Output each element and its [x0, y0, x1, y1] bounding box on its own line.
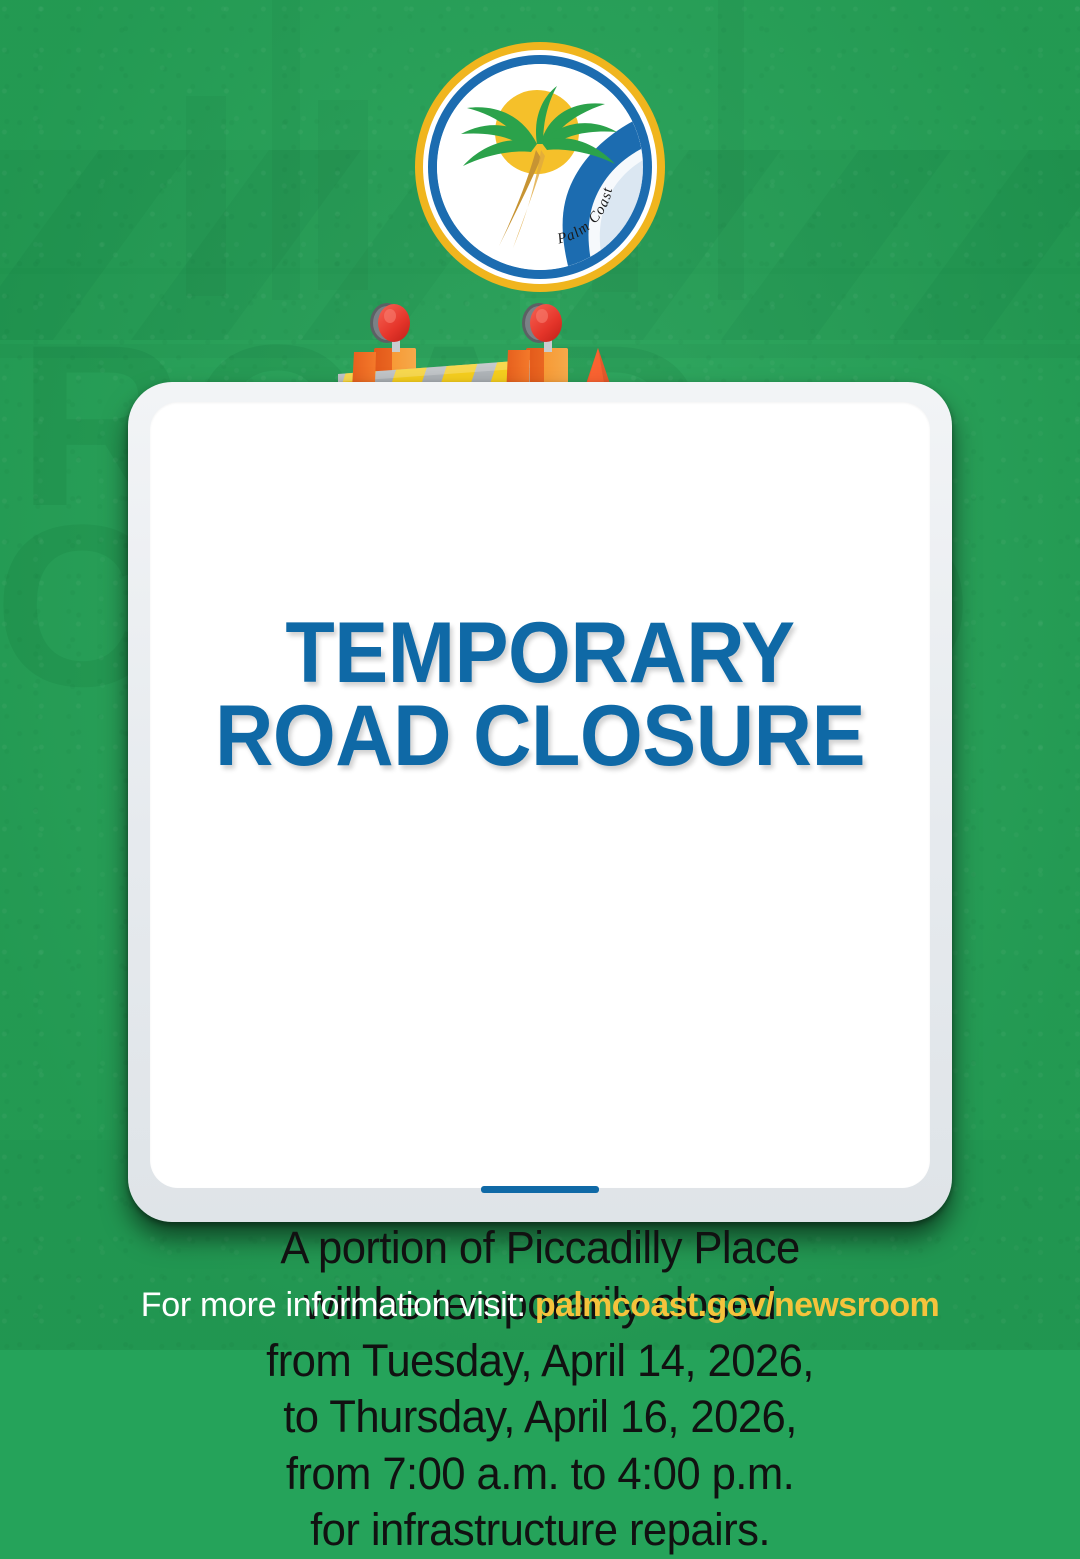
footer-info: For more information visit: palmcoast.go…: [0, 1288, 1080, 1322]
announcement-card-inner: TEMPORARY ROAD CLOSURE A portion of Picc…: [150, 402, 930, 1188]
announcement-card: TEMPORARY ROAD CLOSURE A portion of Picc…: [128, 382, 952, 1222]
body-line: for infrastructure repairs.: [220, 1502, 860, 1558]
announcement-body: A portion of Piccadilly Place will be te…: [220, 1220, 860, 1559]
headline-line-1: TEMPORARY: [173, 612, 906, 695]
footer-url[interactable]: palmcoast.gov/newsroom: [535, 1286, 939, 1324]
barricade-warning-light-right: [522, 303, 562, 352]
body-line: to Thursday, April 16, 2026,: [220, 1389, 860, 1445]
footer-prefix: For more information visit:: [141, 1286, 535, 1324]
title-divider: [481, 1186, 599, 1193]
headline-line-2: ROAD CLOSURE: [173, 695, 906, 778]
body-line: A portion of Piccadilly Place: [220, 1220, 860, 1276]
body-line: from Tuesday, April 14, 2026,: [220, 1333, 860, 1389]
palm-coast-logo: Palm Coast: [415, 42, 665, 292]
page-title: TEMPORARY ROAD CLOSURE: [173, 612, 906, 779]
barricade-warning-light-left: [370, 303, 410, 352]
body-line: from 7:00 a.m. to 4:00 p.m.: [220, 1446, 860, 1502]
logo-face: Palm Coast: [437, 64, 643, 270]
